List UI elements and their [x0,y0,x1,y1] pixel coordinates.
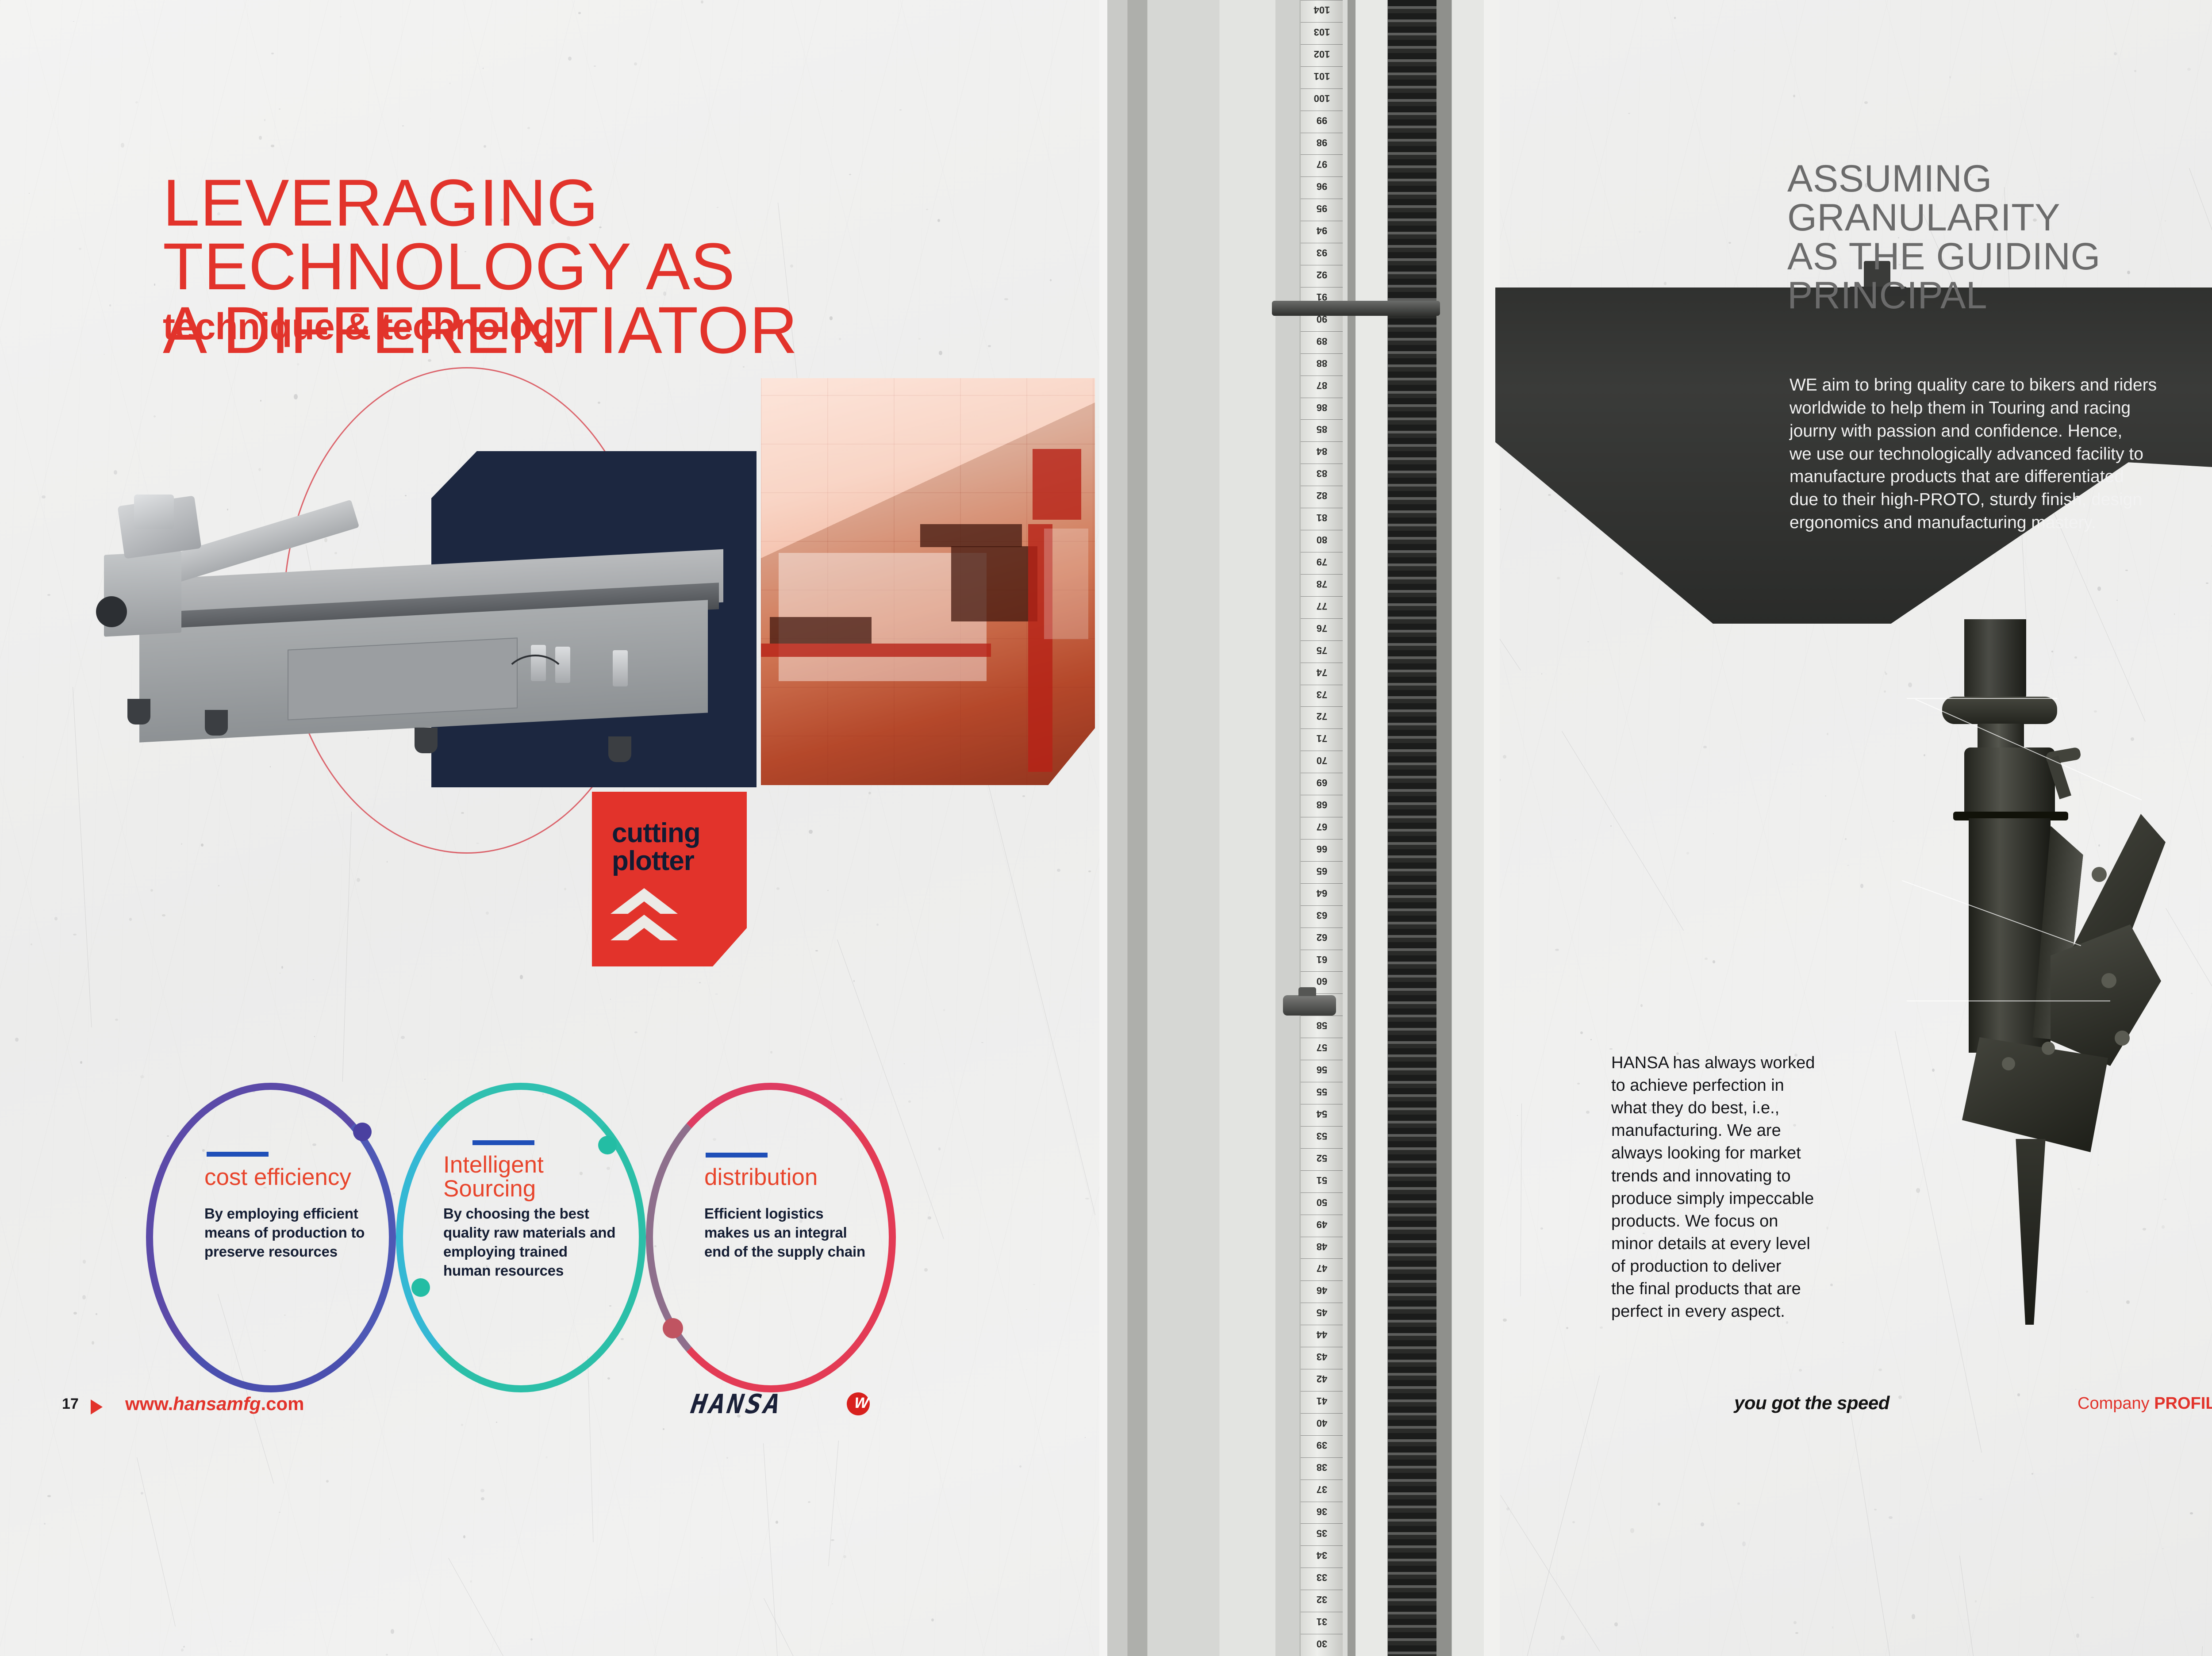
paper-speck [47,1495,51,1497]
ruler-tick [1301,44,1343,45]
paper-speck [715,993,718,995]
ruler-number: 97 [1304,158,1340,170]
ruler-number: 70 [1304,755,1340,766]
paper-speck [313,979,314,980]
paper-speck [183,1646,185,1648]
ruler-tick [1301,88,1343,89]
paper-speck [218,885,219,886]
ruler-tick [1301,154,1343,155]
website-url[interactable]: www.hansamfg.com [125,1393,304,1414]
paper-speck [73,21,74,22]
paper-speck [1799,1369,1802,1371]
ruler-number: 31 [1304,1616,1340,1627]
paper-speck [150,889,153,892]
paper-speck [1734,50,1736,51]
ruler-number: 60 [1304,975,1340,987]
ruler-tick [1301,1215,1343,1215]
paper-speck [449,83,451,84]
paper-speck [2191,993,2193,994]
ruler-number: 75 [1304,644,1340,656]
paper-speck [849,174,851,175]
ruler-number: 40 [1304,1417,1340,1429]
paper-speck [47,594,50,596]
ruler-number: 82 [1304,490,1340,501]
ruler-tick [1301,706,1343,707]
paper-speck [140,1075,144,1078]
paper-speck [1705,958,1708,960]
ruler-tick [1301,441,1343,442]
paper-speck [264,119,265,121]
right-page-paragraph-bottom: HANSA has always worked to achieve perfe… [1611,1052,1859,1323]
ruler-number: 94 [1304,225,1340,236]
company-profile-bold: PROFILE [2154,1394,2212,1413]
paper-speck [988,345,991,347]
paper-speck [918,338,921,340]
cell-title-cost-efficiency: cost efficiency [204,1165,351,1189]
ruler-number: 34 [1304,1549,1340,1561]
ruler-tick [1301,243,1343,243]
cell-title-distribution: distribution [704,1165,818,1189]
paper-speck [663,1428,664,1430]
ruler-tick [1301,1148,1343,1149]
hansa-logo-wordmark: HANSA [686,1389,787,1420]
ruler-tick [1301,265,1343,265]
ruler-number: 80 [1304,534,1340,545]
ruler-tick [1301,353,1343,354]
ruler-number: 43 [1304,1351,1340,1362]
ruler-number: 46 [1304,1284,1340,1296]
rack-gear-strip [1388,0,1436,1656]
column-collar [1272,301,1440,316]
paper-speck [1842,1342,1843,1343]
ruler-tick [1301,486,1343,486]
ruler-tick [1301,1480,1343,1480]
paper-speck [486,912,489,915]
ruler-number: 51 [1304,1174,1340,1186]
ruler-number: 47 [1304,1262,1340,1274]
ruler-number: 68 [1304,799,1340,810]
brochure-spread: LEVERAGING TECHNOLOGY AS A DIFFERENTIATO… [0,0,2212,1656]
paper-speck [104,354,105,355]
ruler-tick [1301,464,1343,464]
ruler-number: 54 [1304,1108,1340,1119]
ruler-tick [1301,663,1343,663]
right-page-title: ASSUMING GRANULARITY AS THE GUIDING PRIN… [1787,160,2101,315]
paper-speck [340,16,342,17]
paper-speck [162,914,165,916]
paper-speck [1827,733,1828,735]
paper-speck [1889,1516,1893,1519]
company-profile-label: Company PROFILE [2078,1394,2212,1413]
ruler-tick [1301,971,1343,972]
ruler-number: 65 [1304,865,1340,877]
paper-speck [1845,838,1847,840]
paper-speck [634,62,637,65]
ruler-tick [1301,883,1343,884]
paper-speck [2127,271,2130,274]
ruler-number: 36 [1304,1506,1340,1517]
paper-speck [483,68,484,69]
paper-speck [1795,1632,1798,1634]
ruler-number: 93 [1304,247,1340,258]
ruler-tick [1301,1237,1343,1237]
ruler-tick [1301,1413,1343,1414]
ruler-number: 71 [1304,732,1340,744]
ruler-tick [1301,221,1343,221]
ruler-number: 48 [1304,1241,1340,1252]
paper-speck [1912,1614,1915,1619]
paper-speck [1737,1503,1740,1505]
paper-speck [271,145,274,147]
paper-speck [92,1341,94,1345]
paper-speck [1640,1004,1643,1007]
paper-speck [1628,113,1630,114]
ruler-number: 67 [1304,821,1340,832]
measuring-ruler-strip: 1041031021011009998979695949392919089888… [1301,0,1343,1656]
cell-body-intelligent-sourcing: By choosing the best quality raw materia… [443,1204,638,1280]
ruler-tick [1301,1347,1343,1347]
ruler-tick [1301,1435,1343,1436]
paper-speck [1555,949,1559,951]
ruler-tick [1301,1568,1343,1568]
ruler-tick [1301,1126,1343,1127]
ruler-tick [1301,1590,1343,1590]
ruler-tick [1301,1369,1343,1369]
ruler-number: 58 [1304,1020,1340,1031]
ruler-tick [1301,1457,1343,1458]
ruler-number: 101 [1304,70,1340,82]
paper-speck [1088,870,1091,872]
paper-speck [809,830,813,834]
paper-speck [1630,1528,1634,1533]
ruler-number: 74 [1304,667,1340,678]
ruler-number: 56 [1304,1064,1340,1075]
paper-speck [1575,839,1576,840]
ruler-number: 30 [1304,1638,1340,1649]
paper-speck [1884,690,1886,692]
ruler-number: 57 [1304,1042,1340,1053]
url-suffix: .com [261,1393,304,1414]
paper-speck [1503,1319,1506,1322]
paper-speck [496,1422,497,1423]
ruler-number: 35 [1304,1527,1340,1539]
ruler-tick [1301,66,1343,67]
ruler-tick [1301,928,1343,928]
ruler-number: 81 [1304,512,1340,523]
ruler-tick [1301,751,1343,751]
paper-speck [1620,572,1623,575]
paper-speck [96,1313,97,1315]
paper-speck [578,12,581,14]
ruler-number: 72 [1304,710,1340,722]
ruler-number: 45 [1304,1307,1340,1318]
paper-speck [2076,1633,2080,1638]
paper-speck [1674,17,1676,19]
infinity-process-diagram: cost efficiency By employing efficient m… [146,1070,1026,1407]
paper-speck [18,1380,19,1380]
paper-speck [2097,586,2101,591]
ruler-tick [1301,1502,1343,1502]
ruler-number: 88 [1304,357,1340,369]
paper-speck [1587,641,1589,642]
ruler-tick [1301,331,1343,332]
paper-speck [634,1031,637,1033]
paper-speck [294,394,298,399]
paper-speck [2134,70,2136,72]
ruler-tick [1301,950,1343,950]
ruler-number: 78 [1304,578,1340,590]
paper-speck [1713,960,1715,963]
paper-speck [868,792,871,794]
paper-speck [2125,570,2128,571]
paper-speck [770,1051,772,1054]
ruler-number: 50 [1304,1196,1340,1208]
paper-speck [808,1501,810,1503]
paper-speck [1564,510,1567,512]
ruler-tick [1301,795,1343,795]
paper-speck [15,1038,19,1042]
machine-column-photo: 1041031021011009998979695949392919089888… [1099,0,1500,1656]
cell-body-cost-efficiency: By employing efficient means of producti… [204,1204,390,1261]
hansa-logo: HANSA W [691,1389,841,1420]
ruler-number: 66 [1304,843,1340,855]
paper-speck [1561,1636,1565,1641]
paper-speck [73,1312,77,1315]
ruler-number: 79 [1304,556,1340,567]
dash-cost-efficiency [207,1152,269,1157]
cutting-plotter-badge: cutting plotter [592,792,747,966]
paper-speck [937,219,940,222]
paper-speck [1878,1368,1882,1371]
paper-speck [154,415,156,418]
ruler-number: 38 [1304,1461,1340,1473]
ruler-number: 69 [1304,777,1340,788]
paper-speck [279,1512,280,1512]
paper-speck [2162,1548,2163,1549]
paper-speck [939,351,942,356]
ruler-tick [1301,376,1343,376]
ruler-tick [1301,1545,1343,1546]
paper-speck [484,145,486,148]
paper-speck [568,57,572,61]
paper-speck [1022,795,1025,797]
ruler-number: 49 [1304,1219,1340,1230]
ruler-tick [1301,1170,1343,1171]
paper-speck [1004,298,1008,300]
paper-speck [776,1521,778,1524]
ruler-number: 37 [1304,1483,1340,1495]
ruler-tick [1301,1038,1343,1038]
dash-distribution [706,1153,768,1158]
paper-speck [815,950,818,951]
dot-distribution [663,1318,683,1338]
ruler-number: 53 [1304,1130,1340,1142]
ruler-tick [1301,1325,1343,1325]
ruler-tick [1301,0,1343,0]
cutting-plotter-photo [86,469,741,743]
paper-speck [387,861,388,862]
page-number-left: 17 [62,1395,79,1413]
ruler-tick [1301,133,1343,133]
paper-speck [1614,1622,1618,1626]
ruler-number: 41 [1304,1395,1340,1407]
ruler-number: 99 [1304,115,1340,126]
ruler-tick [1301,1634,1343,1634]
ruler-tick [1301,1258,1343,1259]
right-page-paragraph-top: WE aim to bring quality care to bikers a… [1790,374,2212,534]
orange-duotone-machine-photo [761,378,1095,785]
paper-speck [1577,1083,1580,1085]
paper-speck [389,1538,390,1539]
cutting-plotter-badge-label: cutting plotter [612,819,700,875]
paper-speck [899,109,902,111]
ruler-tick [1301,596,1343,597]
ruler-tick [1301,111,1343,111]
paper-speck [270,766,271,767]
paper-speck [1033,1284,1035,1285]
ruler-tick [1301,773,1343,773]
column-knob [1283,995,1336,1016]
ruler-number: 42 [1304,1373,1340,1384]
ruler-number: 98 [1304,137,1340,148]
paper-speck [44,1523,46,1525]
ruler-number: 77 [1304,600,1340,612]
ruler-tick [1301,640,1343,641]
ruler-tick [1301,1280,1343,1281]
ruler-number: 32 [1304,1594,1340,1605]
paper-speck [827,890,828,891]
paper-speck [79,248,81,249]
paper-speck [281,966,283,969]
paper-speck [1664,282,1667,285]
ruler-tick [1301,574,1343,575]
dot-intelligent-sourcing-bottom [411,1278,430,1297]
dot-intelligent-sourcing [598,1136,617,1154]
ruler-tick [1301,176,1343,177]
paper-speck [1609,1048,1612,1050]
ruler-tick [1301,905,1343,906]
cell-body-distribution: Efficient logistics makes us an integral… [704,1204,899,1261]
ruler-tick [1301,1192,1343,1193]
ruler-tick [1301,1082,1343,1082]
paper-speck [279,108,280,110]
dot-cost-efficiency [353,1123,372,1141]
ruler-tick [1301,1612,1343,1612]
ruler-tick [1301,839,1343,839]
ruler-number: 103 [1304,26,1340,38]
ruler-number: 61 [1304,954,1340,965]
ruler-tick [1301,22,1343,23]
ruler-tick [1301,685,1343,685]
ruler-number: 104 [1304,4,1340,15]
paper-speck [1975,1600,1976,1602]
paper-speck [926,209,929,210]
tagline: you got the speed [1734,1392,1889,1414]
ruler-tick [1301,552,1343,552]
company-profile-prefix: Company [2078,1394,2154,1413]
paper-speck [1085,1437,1086,1438]
paper-speck [598,402,600,404]
ruler-number: 86 [1304,402,1340,413]
ruler-number: 39 [1304,1439,1340,1451]
ruler-tick [1301,817,1343,817]
paper-speck [699,982,701,983]
url-mid: hansamfg [173,1393,261,1414]
ruler-tick [1301,508,1343,508]
paper-speck [853,980,855,981]
ruler-number: 96 [1304,180,1340,192]
paper-speck [904,1063,905,1064]
paper-speck [181,843,182,845]
ruler-tick [1301,398,1343,398]
ruler-number: 33 [1304,1572,1340,1583]
page-subtitle: technique & technology [163,305,574,348]
paper-speck [80,1061,82,1064]
ruler-number: 55 [1304,1086,1340,1097]
ruler-tick [1301,199,1343,199]
ruler-tick [1301,1016,1343,1016]
paper-speck [259,136,262,140]
ruler-tick [1301,287,1343,287]
paper-speck [1050,279,1052,281]
ruler-number: 87 [1304,379,1340,391]
paper-speck [357,878,360,882]
paper-speck [1686,852,1689,854]
paper-speck [1085,1198,1089,1200]
ruler-number: 95 [1304,203,1340,214]
paper-speck [391,1629,394,1634]
ruler-tick [1301,728,1343,729]
paper-speck [42,495,45,499]
ruler-number: 102 [1304,48,1340,60]
ruler-number: 62 [1304,931,1340,943]
ruler-number: 73 [1304,689,1340,700]
hansa-badge-letter: W [852,1395,871,1412]
paper-speck [931,1618,934,1621]
ruler-number: 63 [1304,909,1340,921]
ruler-tick [1301,1104,1343,1104]
ruler-number: 76 [1304,622,1340,634]
url-prefix: www. [125,1393,173,1414]
ruler-tick [1301,861,1343,862]
paper-speck [402,125,404,126]
ruler-number: 100 [1304,92,1340,104]
ruler-number: 85 [1304,423,1340,435]
paper-speck [1793,95,1795,97]
paper-speck [2190,1512,2193,1514]
ruler-number: 83 [1304,468,1340,479]
dash-intelligent-sourcing [472,1140,534,1145]
column-knob-stem [1298,987,1316,996]
ruler-tick [1301,530,1343,530]
paper-speck [314,1036,315,1037]
paper-speck [1503,755,1506,759]
paper-speck [1701,1522,1704,1526]
ruler-number: 92 [1304,269,1340,280]
ruler-tick [1301,618,1343,619]
cell-title-intelligent-sourcing: Intelligent Sourcing [443,1153,544,1201]
paper-speck [1566,1327,1568,1329]
ruler-tick [1301,1523,1343,1524]
paper-speck [981,1042,983,1043]
ruler-tick [1301,419,1343,420]
paper-speck [1793,1621,1797,1624]
ruler-tick [1301,1391,1343,1391]
hansa-logo-badge-icon: W [847,1392,870,1415]
ruler-number: 84 [1304,445,1340,457]
ruler-tick [1301,1303,1343,1303]
ruler-number: 64 [1304,887,1340,899]
